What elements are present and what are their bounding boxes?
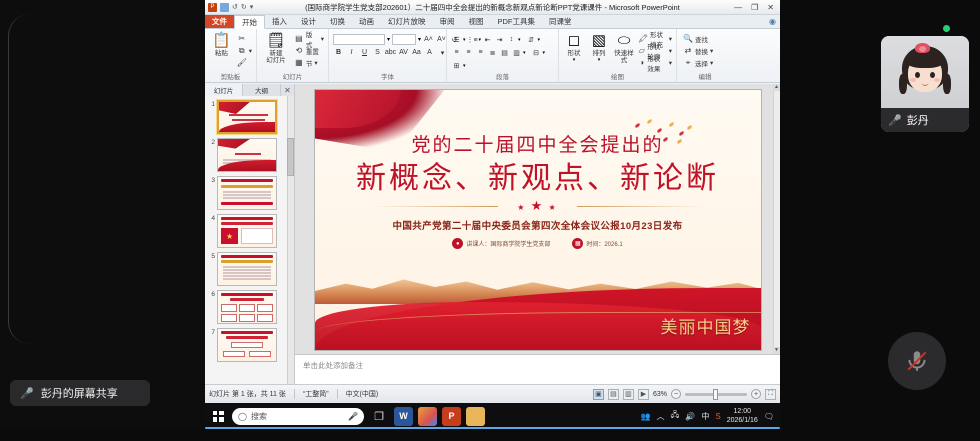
reset-button[interactable]: ⟲重置	[294, 45, 324, 56]
task-view-icon[interactable]: ❐	[369, 406, 389, 426]
tab-animations[interactable]: 动画	[352, 15, 381, 28]
tab-home[interactable]: 开始	[234, 15, 265, 29]
shapes-button[interactable]: ◻ 形状 ▾	[563, 31, 585, 63]
thumbnail-slide-2[interactable]	[217, 138, 277, 172]
microphone-icon[interactable]: 🎤	[348, 412, 358, 421]
ribbon-group-font: ▾ ▾ A˄ A˅ ↺ B I U S abc AV Aa A ▾	[329, 29, 447, 82]
copy-button[interactable]: ⧉▾	[237, 45, 252, 56]
scroll-up-icon[interactable]: ▲	[773, 84, 780, 91]
thumbnail-list[interactable]: 1 2 3	[205, 96, 294, 384]
zoom-slider[interactable]	[685, 393, 747, 396]
slide-meta-date: ▦ 时间：2026.1	[572, 238, 622, 249]
change-case-button[interactable]: Aa	[411, 47, 422, 58]
divider	[337, 389, 338, 399]
quick-styles-button[interactable]: ⬭ 快速样式	[613, 31, 635, 64]
thumbnail-number: 6	[206, 290, 215, 299]
avatar	[881, 36, 969, 108]
shape-outline-icon: ▱	[638, 46, 645, 55]
notification-icon[interactable]: 🗨	[764, 412, 774, 421]
stage-scrollbar[interactable]: ▲ ▼	[773, 84, 780, 354]
align-text-icon[interactable]: ⊟	[531, 47, 542, 58]
powerpoint-app[interactable]: P	[442, 407, 461, 426]
restore-button[interactable]: ❐	[751, 3, 758, 12]
star-decoration: ★ ★ ★	[315, 198, 761, 214]
screen-share-label: 彭丹的屏幕共享	[41, 385, 118, 401]
new-slide-button[interactable]: 🗒 新建 幻灯片	[261, 31, 291, 64]
slide-canvas-wrapper: 党的二十届四中全会提出的 新概念、新观点、新论断 ★ ★ ★ 中国共产党第二十届…	[295, 84, 780, 354]
window-title: (国际商学院学生党支部202601）二十届四中全会提出的新概念新观点新论断PPT…	[205, 2, 780, 13]
arrange-icon: ▧	[592, 33, 606, 49]
thumbnail-item[interactable]: 6	[205, 288, 294, 326]
notes-pane[interactable]: 单击此处添加备注	[295, 354, 780, 384]
thumbnail-number: 5	[206, 252, 215, 261]
numbering-icon[interactable]: ⋮≡	[467, 34, 478, 45]
thumbnail-item[interactable]: 2	[205, 136, 294, 174]
windows-start-icon[interactable]	[209, 407, 227, 425]
new-slide-icon: 🗒	[266, 33, 285, 49]
font-color-button[interactable]: A	[424, 47, 435, 58]
group-label-clipboard: 剪贴板	[209, 73, 252, 82]
divider	[294, 389, 295, 399]
title-bar: P ↺ ↻ ▾ (国际商学院学生党支部202601）二十届四中全会提出的新概念新…	[205, 0, 780, 15]
shrink-font-button[interactable]: A˅	[436, 34, 447, 45]
fit-to-window-icon[interactable]: ⛶	[765, 389, 776, 400]
thumbnail-item[interactable]: 7	[205, 326, 294, 364]
tab-slides[interactable]: 幻灯片	[205, 84, 243, 96]
bottom-dark-strip	[0, 429, 980, 441]
status-bar-right[interactable]: ▣ ▤ ▥ ▶ 63% − + ⛶	[593, 389, 776, 400]
tab-design[interactable]: 设计	[294, 15, 323, 28]
tab-transitions[interactable]: 切换	[323, 15, 352, 28]
clock[interactable]: 12:00 2026/1/16	[727, 407, 758, 425]
window-controls[interactable]: — ❐ ✕	[734, 3, 780, 12]
cut-icon: ✂	[237, 34, 247, 43]
paste-icon: 📋	[212, 33, 231, 49]
thumbnail-slide-5[interactable]	[217, 252, 277, 286]
italic-button[interactable]: I	[346, 47, 357, 58]
normal-view-icon[interactable]: ▣	[593, 389, 604, 400]
windows-taskbar: ◯ 搜索 🎤 ❐ W P 👥 ︿ 🖧 🔊 中 S 12:00 2026/1/16…	[205, 403, 780, 429]
tab-review[interactable]: 审阅	[433, 15, 462, 28]
underline-button[interactable]: U	[359, 47, 370, 58]
section-icon: ▦	[294, 58, 304, 67]
tab-file[interactable]: 文件	[205, 15, 234, 28]
replace-icon: ⇄	[683, 46, 693, 55]
group-label-slides: 幻灯片	[261, 73, 324, 82]
sogou-icon[interactable]: S	[715, 412, 720, 421]
tab-tongketang[interactable]: 同课堂	[542, 15, 579, 28]
decrease-indent-icon[interactable]: ⇤	[482, 34, 493, 45]
shape-effects-button[interactable]: ◑形状效果▾	[638, 57, 672, 68]
thumbnail-slide-3[interactable]	[217, 176, 277, 210]
align-right-icon[interactable]: ≡	[475, 47, 486, 58]
ribbon-group-paragraph: ☰▾ ⋮≡▾ ⇤ ⇥ ↕▾ ⇵▾ ≡ ≡ ≡ ≣ ▤ ▥▾ ⊟▾ ⊞	[447, 29, 559, 82]
grow-font-button[interactable]: A˄	[423, 34, 434, 45]
font-size-input[interactable]	[392, 34, 416, 45]
zoom-in-button[interactable]: +	[751, 389, 761, 399]
character-spacing-button[interactable]: AV	[398, 47, 409, 58]
microphone-icon: 🎤	[20, 387, 34, 400]
clock-date: 2026/1/16	[727, 417, 758, 424]
select-button[interactable]: ⌖选择▾	[683, 57, 713, 68]
thumbnail-number: 3	[206, 176, 215, 185]
text-direction-icon[interactable]: ⇵	[526, 34, 537, 45]
select-icon: ⌖	[683, 58, 693, 68]
avatar-face	[898, 44, 952, 102]
help-circle-icon[interactable]: ◉	[769, 15, 780, 28]
find-icon: 🔍	[683, 34, 693, 43]
tab-outline[interactable]: 大纲	[243, 84, 281, 96]
columns-icon[interactable]: ▥	[511, 47, 522, 58]
close-icon[interactable]: ✕	[281, 84, 294, 96]
word-app[interactable]: W	[394, 407, 413, 426]
clock-time: 12:00	[734, 408, 752, 415]
tab-slideshow[interactable]: 幻灯片放映	[381, 15, 433, 28]
mute-button[interactable]	[888, 332, 946, 390]
replace-button[interactable]: ⇄替换▾	[683, 45, 713, 56]
convert-smartart-icon[interactable]: ⊞	[451, 60, 462, 71]
shared-powerpoint-window: P ↺ ↻ ▾ (国际商学院学生党支部202601）二十届四中全会提出的新概念新…	[205, 0, 780, 403]
minimize-button[interactable]: —	[734, 3, 742, 12]
person-icon: ●	[452, 238, 463, 249]
distribute-icon[interactable]: ▤	[499, 47, 510, 58]
ribbon-group-slides: 🗒 新建 幻灯片 ▤版式▾ ⟲重置 ▦节▾ 幻灯片	[257, 29, 329, 82]
align-center-icon[interactable]: ≡	[463, 47, 474, 58]
thumbnail-slide-1[interactable]	[217, 100, 277, 134]
tab-pdf-tools[interactable]: PDF工具集	[491, 15, 543, 28]
layout-icon: ▤	[294, 34, 304, 43]
system-tray[interactable]: 👥 ︿ 🖧 🔊 中 S 12:00 2026/1/16 🗨	[640, 407, 776, 425]
thumbnail-number: 2	[206, 138, 215, 147]
shape-effects-icon: ◑	[638, 58, 645, 67]
layout-button[interactable]: ▤版式▾	[294, 33, 324, 44]
hair-bow-icon	[915, 43, 930, 53]
slide-count-label: 幻灯片 第 1 张，共 11 张	[209, 389, 286, 399]
search-circle-icon: ◯	[238, 412, 247, 421]
quick-styles-icon: ⬭	[618, 33, 631, 49]
chevron-up-icon[interactable]: ︿	[656, 411, 664, 422]
participant-video-tile[interactable]: 🎤 彭丹	[881, 36, 969, 132]
tab-view[interactable]: 视图	[462, 15, 491, 28]
group-label-paragraph: 段落	[451, 73, 554, 82]
theme-label: “工整简”	[303, 389, 329, 399]
microphone-icon: 🎤	[888, 114, 902, 127]
thumbnail-number: 4	[206, 214, 215, 223]
scroll-down-icon[interactable]: ▼	[773, 347, 780, 354]
reading-view-icon[interactable]: ▥	[623, 389, 634, 400]
align-left-icon[interactable]: ≡	[451, 47, 462, 58]
network-icon[interactable]: 🖧	[670, 409, 679, 423]
thumbnail-item[interactable]: 4 ★	[205, 212, 294, 250]
thumbnail-item[interactable]: 5	[205, 250, 294, 288]
participant-name-bar: 🎤 彭丹	[881, 108, 969, 132]
close-button[interactable]: ✕	[767, 3, 774, 12]
strikethrough-button[interactable]: abc	[385, 47, 396, 58]
font-name-input[interactable]	[333, 34, 385, 45]
thumbnail-item[interactable]: 1	[205, 98, 294, 136]
justify-icon[interactable]: ≣	[487, 47, 498, 58]
slide-meta-row: ● 讲课人：国际商学院学生党支部 ▦ 时间：2026.1	[315, 238, 761, 249]
screen-share-indicator[interactable]: 🎤 彭丹的屏幕共享	[10, 380, 150, 406]
ribbon-tab-bar[interactable]: 文件 开始 插入 设计 切换 动画 幻灯片放映 审阅 视图 PDF工具集 同课堂…	[205, 15, 780, 29]
panel-scrollbar-thumb[interactable]	[287, 138, 294, 176]
work-area: 幻灯片 大纲 ✕ 1 2	[205, 84, 780, 384]
participant-name: 彭丹	[907, 112, 929, 128]
slide-stage: 党的二十届四中全会提出的 新概念、新观点、新论断 ★ ★ ★ 中国共产党第二十届…	[295, 84, 780, 384]
shadow-button[interactable]: S	[372, 47, 383, 58]
ribbon-group-clipboard: 📋 粘贴 ✂ ⧉▾ 🖌 剪贴板	[205, 29, 257, 82]
recording-indicator	[943, 25, 950, 32]
bold-button[interactable]: B	[333, 47, 344, 58]
bullets-icon[interactable]: ☰	[451, 34, 462, 45]
left-curve-decoration	[8, 14, 48, 344]
slide-panel-tabs[interactable]: 幻灯片 大纲 ✕	[205, 84, 294, 96]
group-label-font: 字体	[333, 73, 442, 82]
format-painter-button[interactable]: 🖌	[237, 57, 252, 68]
status-bar: 幻灯片 第 1 张，共 11 张 “工整简” 中文(中国) ▣ ▤ ▥ ▶ 63…	[205, 384, 780, 403]
chrome-app[interactable]	[418, 407, 437, 426]
slide-sorter-icon[interactable]: ▤	[608, 389, 619, 400]
format-painter-icon: 🖌	[237, 58, 247, 67]
microphone-muted-icon	[904, 348, 930, 374]
slide-title-line-2: 新概念、新观点、新论断	[315, 153, 761, 197]
thumbnail-number: 7	[206, 328, 215, 337]
folder-app[interactable]	[466, 407, 485, 426]
thumbnail-slide-4[interactable]: ★	[217, 214, 277, 248]
tab-insert[interactable]: 插入	[265, 15, 294, 28]
slide-watermark: 美丽中国梦	[661, 313, 751, 338]
calendar-icon: ▦	[572, 238, 583, 249]
thumbnail-number: 1	[206, 100, 215, 109]
search-input[interactable]: ◯ 搜索 🎤	[232, 408, 364, 425]
cut-button[interactable]: ✂	[237, 33, 252, 44]
zoom-level-label: 63%	[653, 391, 667, 398]
slide-meta-presenter: ● 讲课人：国际商学院学生党支部	[452, 238, 550, 249]
group-label-drawing: 绘图	[563, 73, 672, 82]
find-button[interactable]: 🔍查找	[683, 33, 713, 44]
reset-icon: ⟲	[294, 46, 304, 55]
thumbnail-slide-7[interactable]	[217, 328, 277, 362]
ribbon: 📋 粘贴 ✂ ⧉▾ 🖌 剪贴板 🗒 新建 幻灯片 ▤版式▾	[205, 29, 780, 83]
ime-icon[interactable]: 中	[701, 411, 709, 422]
zoom-slider-knob[interactable]	[713, 389, 718, 400]
ribbon-group-drawing: ◻ 形状 ▾ ▧ 排列 ▾ ⬭ 快速样式 🖍形状填充▾ ▱形状轮廓▾ ◑形状效果…	[559, 29, 677, 82]
zoom-out-button[interactable]: −	[671, 389, 681, 399]
paste-button[interactable]: 📋 粘贴	[209, 31, 234, 57]
volume-icon[interactable]: 🔊	[685, 412, 695, 421]
slide-thumbnail-panel: 幻灯片 大纲 ✕ 1 2	[205, 84, 295, 384]
search-placeholder: 搜索	[251, 411, 267, 422]
thumbnail-slide-6[interactable]	[217, 290, 277, 324]
arrange-button[interactable]: ▧ 排列 ▾	[588, 31, 610, 63]
panel-scrollbar[interactable]	[287, 96, 294, 384]
thumbnail-item[interactable]: 3	[205, 174, 294, 212]
slideshow-icon[interactable]: ▶	[638, 389, 649, 400]
language-label: 中文(中国)	[346, 389, 379, 399]
section-button[interactable]: ▦节▾	[294, 57, 324, 68]
copy-icon: ⧉	[237, 46, 247, 56]
shapes-icon: ◻	[568, 33, 580, 49]
people-icon[interactable]: 👥	[640, 412, 650, 421]
line-spacing-icon[interactable]: ↕	[506, 34, 517, 45]
ribbon-group-editing: 🔍查找 ⇄替换▾ ⌖选择▾ 编辑	[677, 29, 733, 82]
current-slide[interactable]: 党的二十届四中全会提出的 新概念、新观点、新论断 ★ ★ ★ 中国共产党第二十届…	[314, 89, 762, 351]
slide-subtitle: 中国共产党第二十届中央委员会第四次全体会议公报10月23日发布	[315, 218, 761, 232]
increase-indent-icon[interactable]: ⇥	[494, 34, 505, 45]
group-label-editing: 编辑	[681, 73, 729, 82]
